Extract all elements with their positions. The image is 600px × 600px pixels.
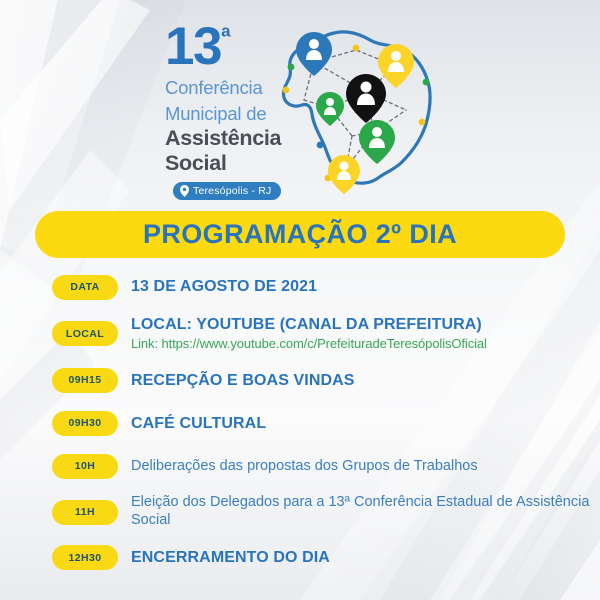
schedule-time-badge: 09H15 [52,368,118,393]
schedule-time-badge: 11H [52,500,118,525]
schedule-row-body: 13 DE AGOSTO DE 2021 [131,277,317,297]
schedule-row-title: 13 DE AGOSTO DE 2021 [131,277,317,297]
schedule-row-link[interactable]: Link: https://www.youtube.com/c/Prefeitu… [131,336,487,353]
schedule-time-badge: DATA [52,275,118,300]
schedule-row-title: Deliberações das propostas dos Grupos de… [131,458,478,476]
schedule-time-badge: 10H [52,454,118,479]
schedule-list: DATA13 DE AGOSTO DE 2021LOCALLOCAL: YOUT… [0,272,600,586]
schedule-row-body: Eleição dos Delegados para a 13ª Conferê… [131,494,600,529]
pin-yellow-ne [378,44,414,88]
schedule-row-title: LOCAL: YOUTUBE (CANAL DA PREFEITURA) [131,315,487,335]
pin-yellow-south [328,155,360,194]
poster-header: 13ª Conferência Municipal de Assistência… [0,0,600,200]
pin-green-se [359,120,395,164]
city-label: Teresópolis - RJ [193,185,271,197]
banner-title: PROGRAMAÇÃO 2º DIA [143,219,457,250]
schedule-row-title: CAFÉ CULTURAL [131,414,266,434]
schedule-time-badge: LOCAL [52,321,118,346]
schedule-row-title: RECEPÇÃO E BOAS VINDAS [131,371,355,391]
schedule-time-badge: 12H30 [52,545,118,570]
schedule-row: DATA13 DE AGOSTO DE 2021 [0,272,600,302]
schedule-row: 10HDeliberações das propostas dos Grupos… [0,451,600,481]
programacao-banner: PROGRAMAÇÃO 2º DIA [35,211,565,258]
schedule-row-body: Deliberações das propostas dos Grupos de… [131,458,478,476]
schedule-row-title: Eleição dos Delegados para a 13ª Conferê… [131,494,600,529]
schedule-row: 09H15RECEPÇÃO E BOAS VINDAS [0,365,600,395]
location-pin-icon [180,185,189,197]
ordinal-suffix: ª [221,21,231,51]
brazil-map-pins-network-icon [278,10,448,195]
schedule-row-body: LOCAL: YOUTUBE (CANAL DA PREFEITURA)Link… [131,315,487,352]
schedule-row-body: ENCERRAMENTO DO DIA [131,548,330,568]
schedule-row: 09H30CAFÉ CULTURAL [0,408,600,438]
schedule-row-title: ENCERRAMENTO DO DIA [131,548,330,568]
schedule-time-badge: 09H30 [52,411,118,436]
schedule-row: LOCALLOCAL: YOUTUBE (CANAL DA PREFEITURA… [0,315,600,352]
poster-canvas: 13ª Conferência Municipal de Assistência… [0,0,600,600]
city-badge: Teresópolis - RJ [173,182,281,200]
schedule-row: 11HEleição dos Delegados para a 13ª Conf… [0,494,600,529]
schedule-row-body: RECEPÇÃO E BOAS VINDAS [131,371,355,391]
schedule-row: 12H30ENCERRAMENTO DO DIA [0,543,600,573]
schedule-row-body: CAFÉ CULTURAL [131,414,266,434]
pin-black-center [346,74,386,123]
